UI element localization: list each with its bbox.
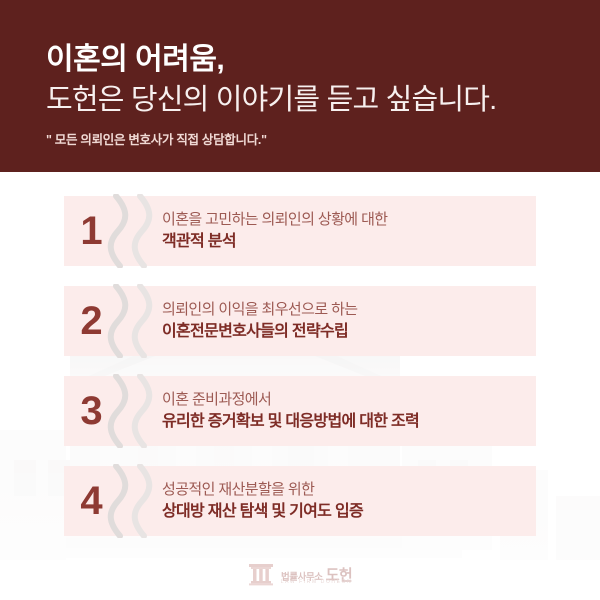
list-item-text: 이혼을 고민하는 의뢰인의 상황에 대한 객관적 분석 bbox=[156, 210, 536, 253]
list-item-text: 의뢰인의 이익을 최우선으로 하는 이혼전문변호사들의 전략수립 bbox=[156, 300, 536, 343]
list-item: 2 의뢰인의 이익을 최우선으로 하는 이혼전문변호사들의 전략수립 bbox=[64, 286, 536, 356]
footer-logo: 법률사무소 도헌 LAW FIRM DOHEON bbox=[0, 562, 600, 586]
list-item-text: 이혼 준비과정에서 유리한 증거확보 및 대응방법에 대한 조력 bbox=[156, 390, 536, 433]
list-item-line-1: 이혼 준비과정에서 bbox=[162, 390, 526, 410]
list-item-line-2: 유리한 증거확보 및 대응방법에 대한 조력 bbox=[162, 411, 526, 433]
list-item-line-2: 이혼전문변호사들의 전략수립 bbox=[162, 321, 526, 343]
list-item-line-1: 의뢰인의 이익을 최우선으로 하는 bbox=[162, 300, 526, 320]
double-chevron-icon bbox=[110, 286, 156, 356]
list-item-number: 2 bbox=[64, 301, 110, 341]
list-item: 4 성공적인 재산분할을 위한 상대방 재산 탐색 및 기여도 입증 bbox=[64, 466, 536, 536]
list-item-number: 3 bbox=[64, 391, 110, 431]
double-chevron-icon bbox=[110, 466, 156, 536]
infographic-page: 이혼의 어려움, 도헌은 당신의 이야기를 듣고 싶습니다. " 모든 의뢰인은… bbox=[0, 0, 600, 600]
list-item-number: 1 bbox=[64, 211, 110, 251]
pillar-emblem-icon bbox=[248, 562, 274, 586]
footer-firm-romanization: LAW FIRM DOHEON bbox=[281, 579, 353, 585]
list-item-line-2: 객관적 분석 bbox=[162, 231, 526, 253]
double-chevron-icon bbox=[110, 376, 156, 446]
header-tagline: " 모든 의뢰인은 변호사가 직접 상담합니다." bbox=[46, 134, 267, 147]
page-title-line-1: 이혼의 어려움, bbox=[46, 45, 224, 75]
list-item-line-1: 성공적인 재산분할을 위한 bbox=[162, 480, 526, 500]
list-item-text: 성공적인 재산분할을 위한 상대방 재산 탐색 및 기여도 입증 bbox=[156, 480, 536, 523]
page-title-line-2: 도헌은 당신의 이야기를 듣고 싶습니다. bbox=[46, 86, 496, 115]
service-points-list: 1 이혼을 고민하는 의뢰인의 상황에 대한 객관적 분석 2 bbox=[0, 172, 600, 536]
list-item: 3 이혼 준비과정에서 유리한 증거확보 및 대응방법에 대한 조력 bbox=[64, 376, 536, 446]
list-item: 1 이혼을 고민하는 의뢰인의 상황에 대한 객관적 분석 bbox=[64, 196, 536, 266]
header-banner: 이혼의 어려움, 도헌은 당신의 이야기를 듣고 싶습니다. " 모든 의뢰인은… bbox=[0, 0, 600, 172]
list-item-line-1: 이혼을 고민하는 의뢰인의 상황에 대한 bbox=[162, 210, 526, 230]
list-item-number: 4 bbox=[64, 481, 110, 521]
list-item-line-2: 상대방 재산 탐색 및 기여도 입증 bbox=[162, 501, 526, 523]
double-chevron-icon bbox=[110, 196, 156, 266]
